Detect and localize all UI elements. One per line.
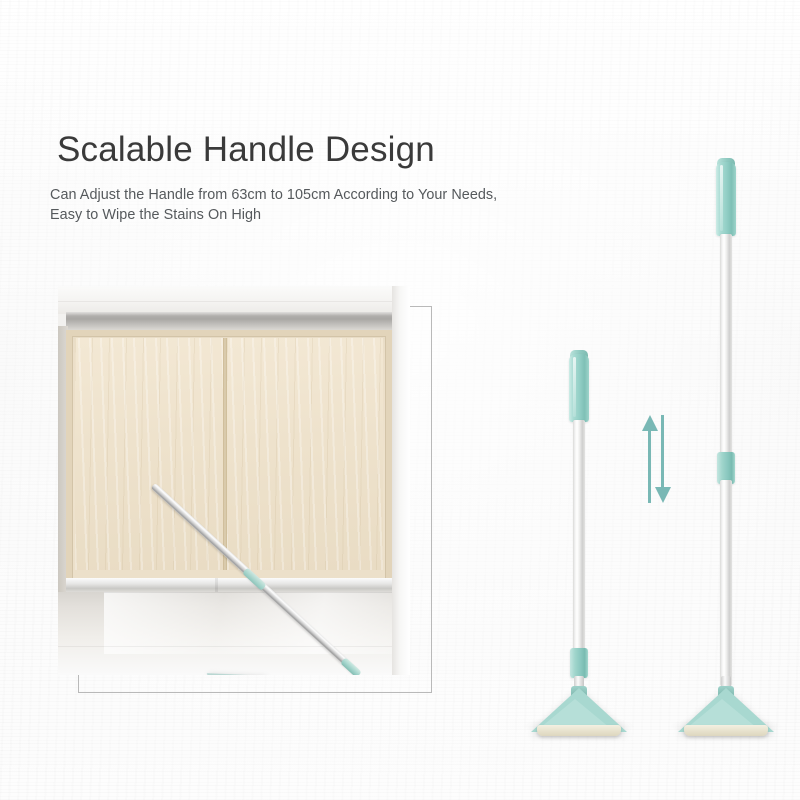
subtitle-line-2: Easy to Wipe the Stains On High	[50, 206, 497, 226]
adjust-arrows	[640, 415, 680, 515]
photo-cabinet-inner-frame	[72, 336, 386, 580]
page-title: Scalable Handle Design	[57, 128, 435, 172]
mop-extended-grip	[716, 162, 736, 236]
photo-lower-wall-edge	[104, 592, 410, 593]
arrow-up-head-icon	[642, 415, 658, 431]
mop-retracted-grip	[569, 354, 589, 422]
cabinet-cleaning-photo	[58, 286, 410, 675]
page-subtitle: Can Adjust the Handle from 63cm to 105cm…	[50, 186, 497, 225]
mop-retracted-pole	[573, 420, 585, 652]
mop-extended-lower-pole	[720, 480, 732, 686]
photo-cabinet-body	[66, 330, 392, 586]
mop-extended-upper-pole	[720, 234, 732, 460]
photo-cabinet-top-highlight	[66, 312, 410, 316]
photo-cabinet-bottom-rail	[66, 578, 392, 592]
mop-retracted-collar	[570, 648, 588, 678]
photo-lower-wall-edge-2	[58, 646, 410, 647]
product-marketing-banner: Scalable Handle Design Can Adjust the Ha…	[0, 0, 800, 800]
mop-extended-head	[678, 688, 774, 734]
photo-wall-top	[58, 286, 410, 314]
photo-lower-wall-gloss	[104, 592, 410, 654]
mop-retracted-head	[531, 688, 627, 734]
mop-extended-microfiber-pad	[684, 725, 768, 736]
photo-right-wall-strip	[392, 286, 410, 675]
arrow-down-head-icon	[655, 487, 671, 503]
arrow-down-icon	[661, 415, 664, 489]
mop-retracted-microfiber-pad	[537, 725, 621, 736]
subtitle-line-1: Can Adjust the Handle from 63cm to 105cm…	[50, 186, 497, 206]
arrow-up-icon	[648, 429, 651, 503]
